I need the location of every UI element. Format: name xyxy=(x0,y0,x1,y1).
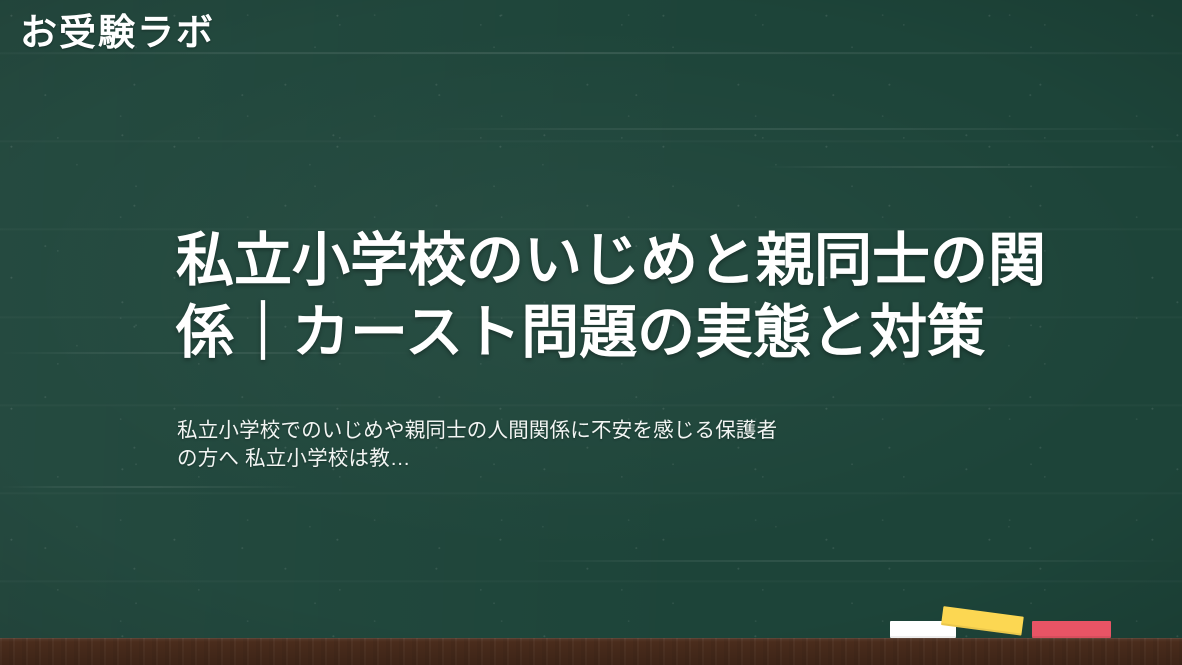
chalk-tray xyxy=(0,638,1182,665)
site-logo[interactable]: お受験ラボ xyxy=(20,12,215,55)
page-title: 私立小学校のいじめと親同士の関係｜カースト問題の実態と対策 xyxy=(176,225,1082,369)
page-subtitle: 私立小学校でのいじめや親同士の人間関係に不安を感じる保護者の方へ 私立小学校は教… xyxy=(177,417,787,473)
thumbnail-canvas: お受験ラボ 私立小学校のいじめと親同士の関係｜カースト問題の実態と対策 私立小学… xyxy=(0,0,1182,665)
red-chalk-icon xyxy=(1032,621,1111,638)
